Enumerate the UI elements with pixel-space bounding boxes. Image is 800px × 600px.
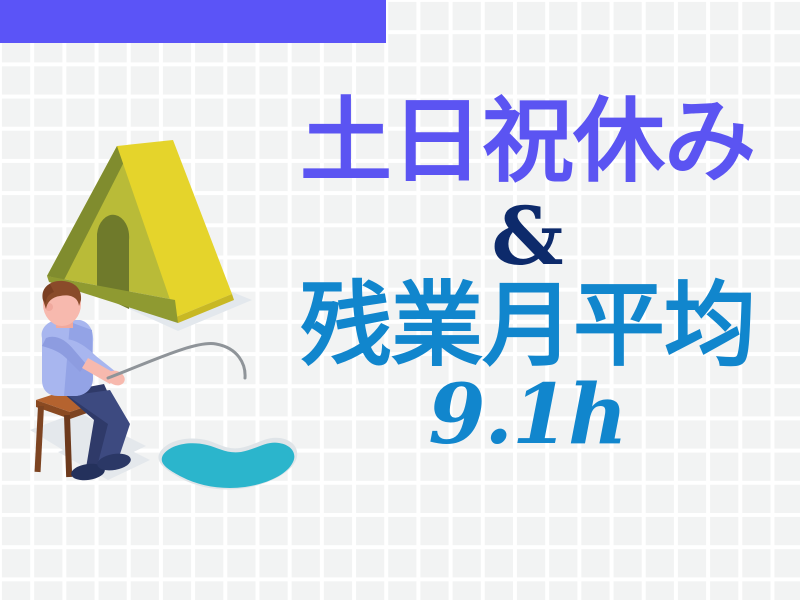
fishing-rod bbox=[108, 344, 245, 378]
fishing-rod-line bbox=[108, 344, 245, 378]
poster-canvas: 土日祝休み & 残業月平均 9.1h bbox=[0, 0, 800, 600]
headline-line-2: 残業月平均 bbox=[255, 280, 800, 372]
stool-leg-front-left bbox=[35, 406, 44, 472]
headline-line-1: 土日祝休み bbox=[255, 96, 800, 188]
headline-block: 土日祝休み & 残業月平均 9.1h bbox=[255, 96, 800, 456]
headline-ampersand: & bbox=[255, 194, 800, 278]
headline-overtime-value: 9.1h bbox=[255, 374, 800, 456]
